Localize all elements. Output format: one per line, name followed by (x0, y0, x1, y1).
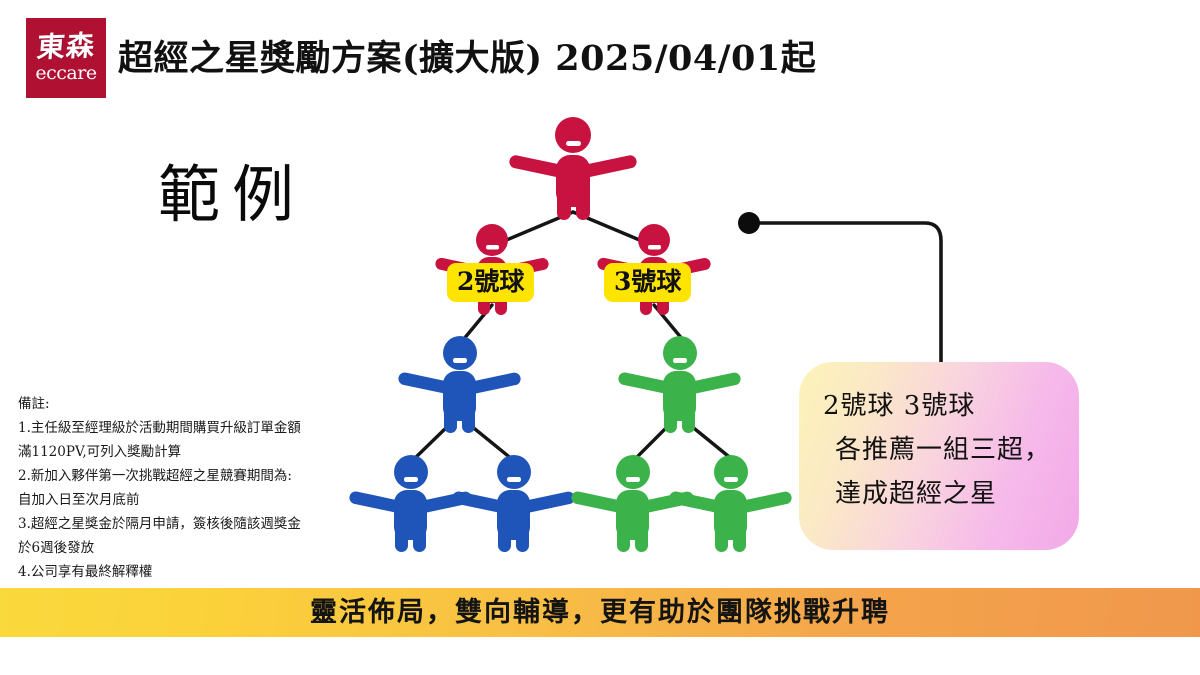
edge-blue-m1 (413, 425, 449, 460)
person-green-member-2 (668, 455, 793, 552)
edge-root-ball2 (497, 212, 573, 244)
edge-ball2-blue (463, 305, 492, 340)
edge-root-ball3 (573, 212, 649, 244)
person-blue-member-2 (451, 455, 576, 552)
footer-banner: 靈活佈局，雙向輔導，更有助於團隊挑戰升聘 (0, 588, 1200, 637)
person-green-member-1 (570, 455, 695, 552)
page-title: 超經之星獎勵方案(擴大版) 2025/04/01起 (118, 38, 816, 80)
badge-ball-2: 2號球 (447, 263, 534, 302)
edge-green-m1 (634, 425, 669, 460)
notes-block: 備註: 1.主任級至經理級於活動期間購買升級訂單金額滿1120PV,可列入獎勵計… (18, 392, 308, 584)
logo-latin-text: eccare (35, 63, 96, 84)
note-item-4: 4.公司享有最終解釋權 (18, 560, 308, 584)
edge-blue-m2 (470, 425, 513, 460)
person-blue-leader (397, 336, 522, 433)
callout-line-3: 達成超經之星 (823, 472, 1059, 516)
badge-ball-3: 3號球 (604, 263, 691, 302)
logo-cjk-text: 東森 (36, 31, 96, 63)
note-item-1: 1.主任級至經理級於活動期間購買升級訂單金額滿1120PV,可列入獎勵計算 (18, 416, 308, 464)
note-item-3: 3.超經之星獎金於隔月申請，簽核後隨該週獎金於6週後發放 (18, 512, 308, 560)
person-green-leader (617, 336, 742, 433)
connector-dot (738, 212, 760, 234)
slide-canvas: 東森 eccare 超經之星獎勵方案(擴大版) 2025/04/01起 範例 備… (0, 0, 1200, 675)
callout-line-1: 2號球 3號球 (823, 384, 1059, 428)
footer-slogan: 靈活佈局，雙向輔導，更有助於團隊挑戰升聘 (310, 598, 890, 628)
callout-box: 2號球 3號球 各推薦一組三超， 達成超經之星 (799, 362, 1079, 550)
person-root (508, 117, 638, 220)
edge-green-m2 (690, 425, 733, 460)
example-heading: 範例 (158, 160, 306, 230)
callout-line-2: 各推薦一組三超， (823, 428, 1059, 472)
tree-connector-lines (413, 212, 733, 460)
edge-ball3-green (654, 305, 683, 340)
eccare-logo: 東森 eccare (26, 18, 106, 98)
note-item-2: 2.新加入夥伴第一次挑戰超經之星競賽期間為: 自加入日至次月底前 (18, 464, 308, 512)
person-blue-member-1 (348, 455, 473, 552)
connector-line (750, 223, 941, 370)
notes-heading: 備註: (18, 392, 308, 416)
